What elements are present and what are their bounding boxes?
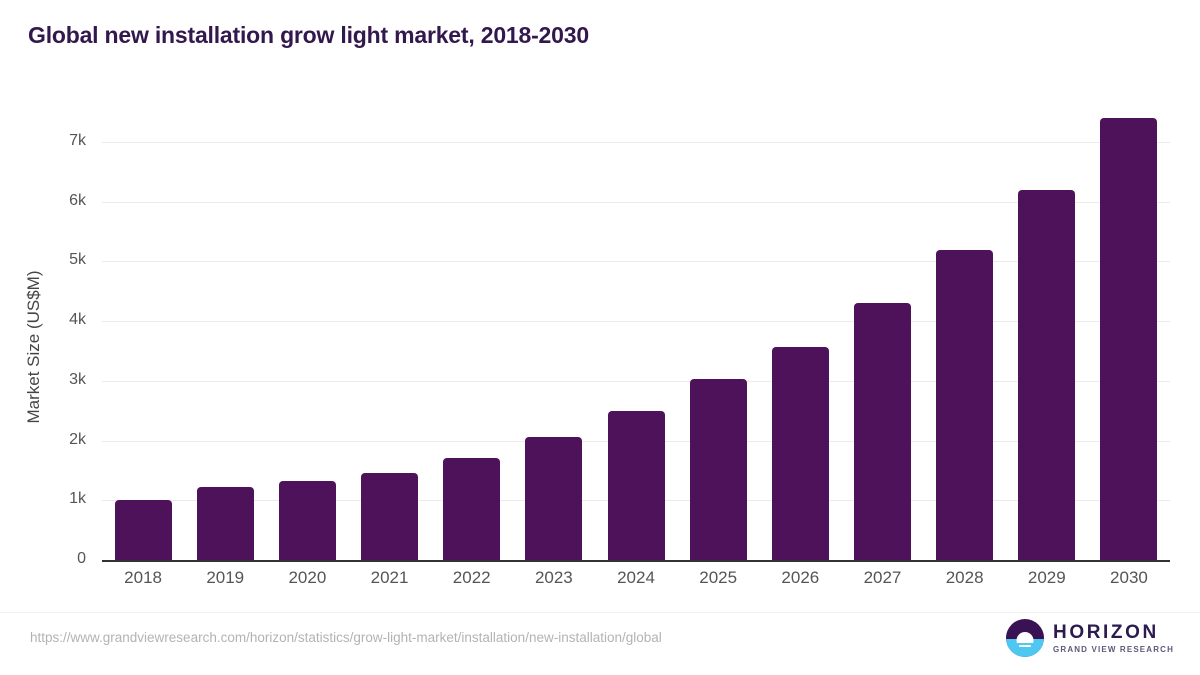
bar-slot — [102, 100, 184, 560]
x-axis-tick-labels: 2018201920202021202220232024202520262027… — [102, 568, 1170, 588]
bar-slot — [677, 100, 759, 560]
axis-baseline — [102, 560, 1170, 562]
bar-2018[interactable] — [115, 500, 172, 560]
bar-2022[interactable] — [443, 458, 500, 560]
bar-slot — [595, 100, 677, 560]
bar-slot — [924, 100, 1006, 560]
x-tick-label-2021: 2021 — [348, 568, 430, 588]
y-tick-label: 2k — [26, 432, 86, 448]
bar-2023[interactable] — [525, 437, 582, 560]
y-tick-label: 4k — [26, 312, 86, 328]
y-tick-label: 6k — [26, 193, 86, 209]
y-tick-label: 5k — [26, 252, 86, 268]
bar-slot — [759, 100, 841, 560]
x-tick-label-2023: 2023 — [513, 568, 595, 588]
bar-2029[interactable] — [1018, 190, 1075, 560]
x-tick-label-2025: 2025 — [677, 568, 759, 588]
footer-divider — [0, 612, 1200, 613]
bar-2025[interactable] — [690, 379, 747, 560]
bar-slot — [431, 100, 513, 560]
logo-sun-shape — [1017, 632, 1034, 641]
bar-slot — [1006, 100, 1088, 560]
logo-name: HORIZON — [1053, 623, 1174, 642]
bar-slot — [184, 100, 266, 560]
x-tick-label-2018: 2018 — [102, 568, 184, 588]
source-url[interactable]: https://www.grandviewresearch.com/horizo… — [30, 630, 662, 645]
bar-2026[interactable] — [772, 347, 829, 560]
bar-slot — [266, 100, 348, 560]
x-tick-label-2022: 2022 — [431, 568, 513, 588]
bar-2028[interactable] — [936, 250, 993, 560]
x-tick-label-2029: 2029 — [1006, 568, 1088, 588]
x-tick-label-2019: 2019 — [184, 568, 266, 588]
x-tick-label-2030: 2030 — [1088, 568, 1170, 588]
logo-ray-2 — [1019, 645, 1031, 647]
x-tick-label-2020: 2020 — [266, 568, 348, 588]
x-tick-label-2027: 2027 — [841, 568, 923, 588]
bar-2019[interactable] — [197, 487, 254, 560]
horizon-logo: HORIZON GRAND VIEW RESEARCH — [1006, 618, 1174, 658]
chart-page: Global new installation grow light marke… — [0, 0, 1200, 675]
bar-2020[interactable] — [279, 481, 336, 560]
logo-text-block: HORIZON GRAND VIEW RESEARCH — [1053, 623, 1174, 654]
chart-plot-area: Market Size (US$M) 01k2k3k4k5k6k7k 20182… — [0, 0, 1200, 675]
bar-2030[interactable] — [1100, 118, 1157, 560]
bar-slot — [513, 100, 595, 560]
x-tick-label-2024: 2024 — [595, 568, 677, 588]
y-tick-label: 7k — [26, 133, 86, 149]
bar-series — [102, 100, 1170, 560]
logo-subtitle: GRAND VIEW RESEARCH — [1053, 646, 1174, 654]
y-tick-label: 1k — [26, 491, 86, 507]
bar-2021[interactable] — [361, 473, 418, 560]
y-tick-label: 3k — [26, 372, 86, 388]
bar-slot — [348, 100, 430, 560]
bar-2024[interactable] — [608, 411, 665, 560]
x-tick-label-2026: 2026 — [759, 568, 841, 588]
horizon-sun-circle-icon — [1006, 619, 1044, 657]
y-tick-label: 0 — [26, 551, 86, 567]
bar-slot — [1088, 100, 1170, 560]
logo-ray-1 — [1017, 641, 1034, 643]
bar-2027[interactable] — [854, 303, 911, 560]
x-tick-label-2028: 2028 — [924, 568, 1006, 588]
bar-slot — [841, 100, 923, 560]
